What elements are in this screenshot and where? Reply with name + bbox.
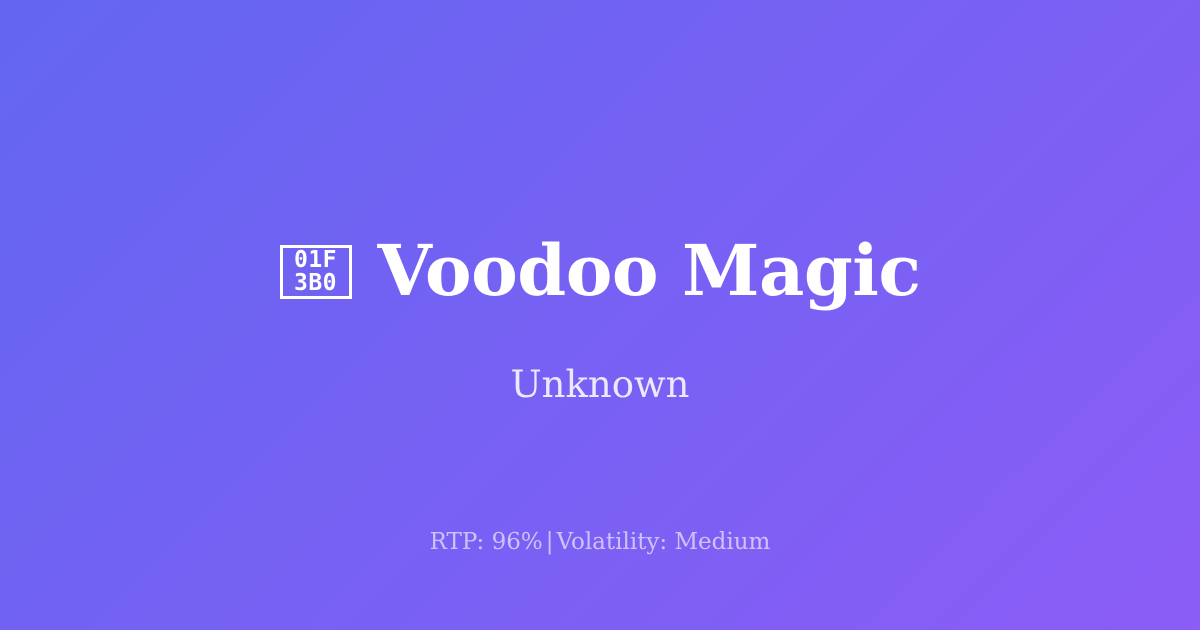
volatility-label: Volatility: Medium (556, 529, 770, 555)
og-card: 01F 3B0 Voodoo Magic Unknown RTP: 96%|Vo… (0, 0, 1200, 630)
page-title: Voodoo Magic (378, 232, 921, 310)
title-row: 01F 3B0 Voodoo Magic (0, 232, 1200, 310)
game-meta-line: RTP: 96%|Volatility: Medium (0, 526, 1200, 558)
meta-separator: | (543, 529, 557, 555)
slot-machine-emoji-icon: 01F 3B0 (280, 245, 352, 299)
tofu-hex-bottom: 3B0 (294, 272, 337, 295)
tofu-hex-top: 01F (294, 249, 337, 272)
provider-label: Unknown (0, 362, 1200, 408)
rtp-label: RTP: 96% (430, 529, 543, 555)
